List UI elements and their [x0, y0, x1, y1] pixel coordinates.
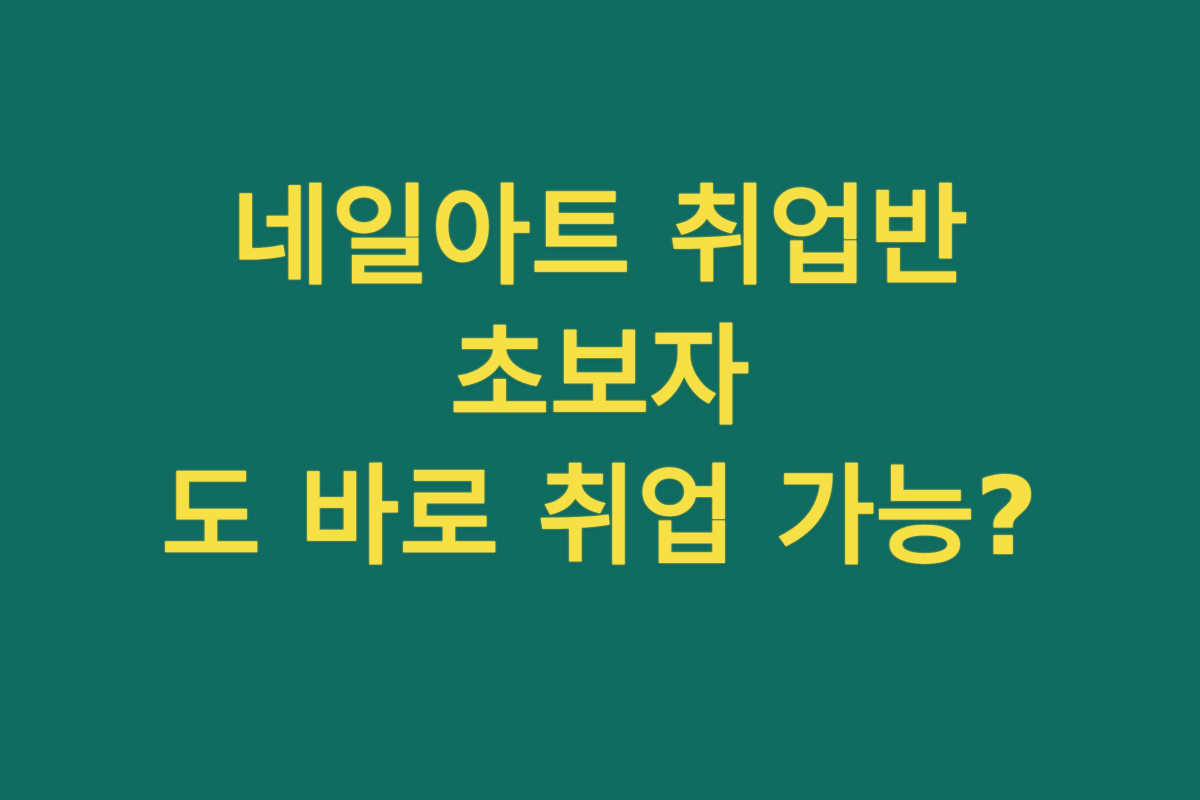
page-title: 네일아트 취업반 초보자 도 바로 취업 가능?: [70, 168, 1130, 588]
headline-line-2: 도 바로 취업 가능?: [70, 448, 1130, 588]
text-banner: 네일아트 취업반 초보자 도 바로 취업 가능?: [0, 0, 1200, 800]
headline-line-1: 네일아트 취업반 초보자: [70, 168, 1130, 448]
